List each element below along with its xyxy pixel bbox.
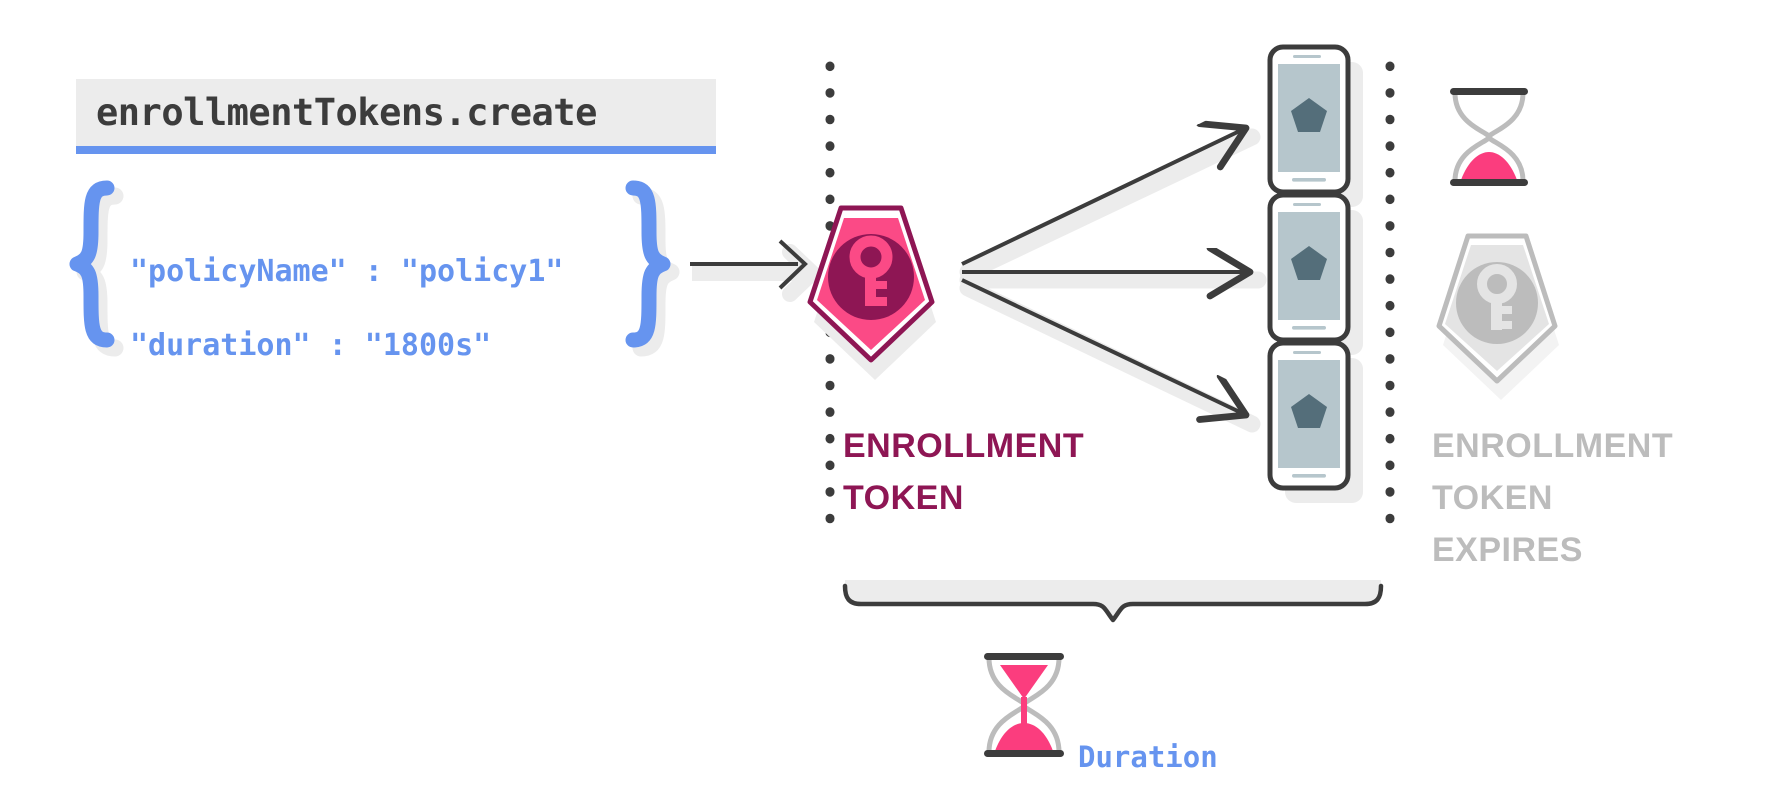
token-to-device-3-arrow xyxy=(962,280,1252,424)
hourglass-sand xyxy=(1461,152,1517,180)
hourglass-flowing-icon xyxy=(984,653,1064,757)
token-to-device-2-arrow xyxy=(962,272,1258,280)
expired-token-pentagon-key-icon xyxy=(1439,236,1559,400)
device-1 xyxy=(1270,47,1363,207)
hourglass-lower-sand xyxy=(995,723,1053,751)
device-3 xyxy=(1270,343,1363,503)
request-body-open-brace xyxy=(77,188,115,348)
duration-brace xyxy=(845,580,1381,620)
request-arrow xyxy=(690,241,812,294)
diagram-canvas: enrollmentTokens.create "policyName" : "… xyxy=(0,0,1789,795)
device-2 xyxy=(1270,195,1363,355)
diagram-vector-layer xyxy=(0,0,1789,795)
enrollment-token-pentagon-key-icon xyxy=(810,208,936,380)
hourglass-full-icon xyxy=(1450,88,1528,186)
request-body-close-brace xyxy=(633,188,671,348)
token-to-device-1-arrow xyxy=(962,128,1252,272)
